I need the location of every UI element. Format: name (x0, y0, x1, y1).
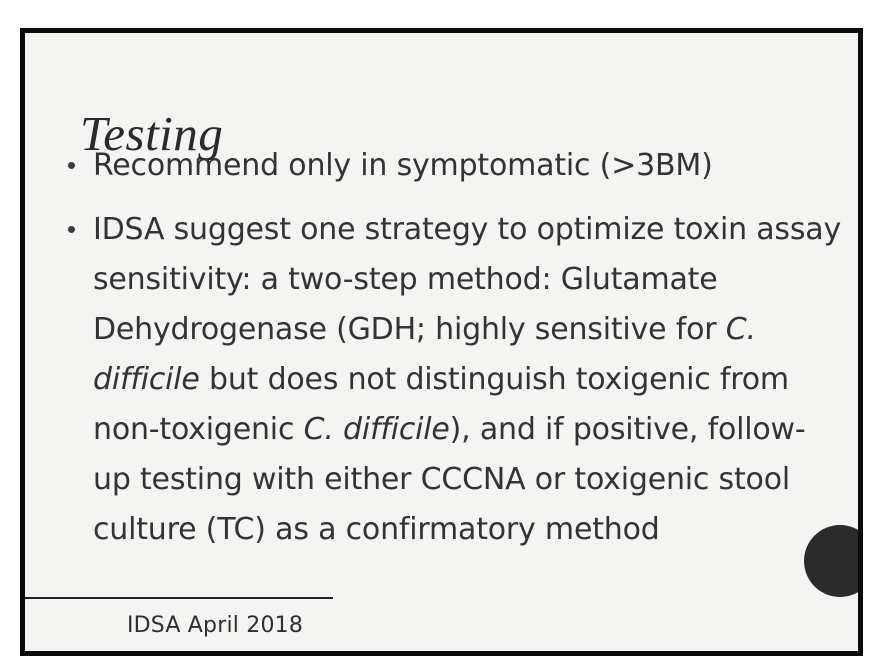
slide-canvas: Testing Recommend only in symptomatic (>… (0, 0, 883, 669)
list-item: Recommend only in symptomatic (>3BM) (61, 141, 841, 191)
bullet-dot-icon (68, 226, 75, 233)
bullet-list: Recommend only in symptomatic (>3BM) IDS… (61, 141, 841, 569)
bullet-dot-icon (68, 162, 75, 169)
list-item: IDSA suggest one strategy to optimize to… (61, 205, 841, 555)
list-item-text: Recommend only in symptomatic (>3BM) (93, 148, 713, 183)
footnote-divider (25, 597, 333, 599)
italic-species-name: C. difficile (304, 412, 450, 447)
footnote-citation: IDSA April 2018 (25, 611, 405, 641)
list-item-text: IDSA suggest one strategy to optimize to… (93, 212, 841, 547)
slide-frame: Testing Recommend only in symptomatic (>… (20, 28, 863, 656)
